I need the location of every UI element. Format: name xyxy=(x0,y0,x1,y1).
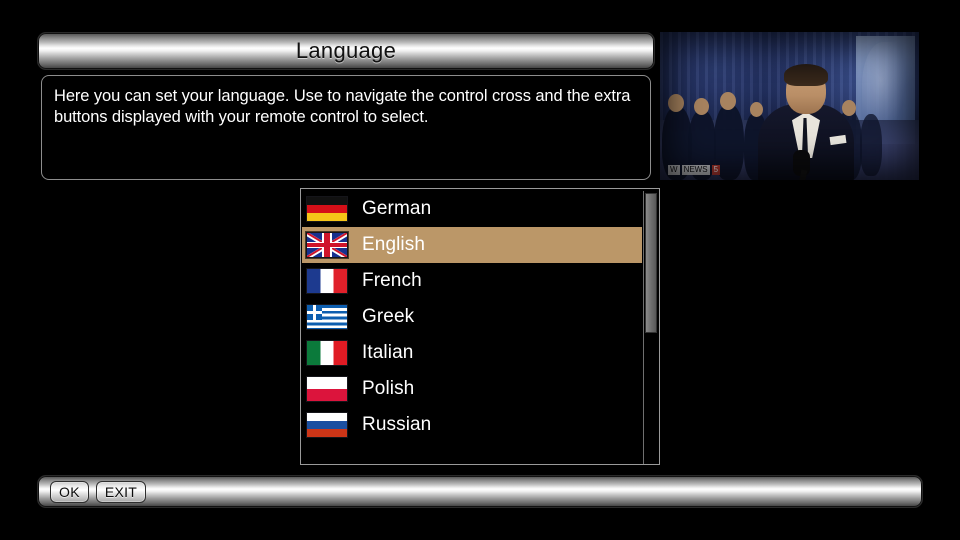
ok-button[interactable]: OK xyxy=(50,481,89,503)
video-preview[interactable]: W NEWS 5 xyxy=(660,32,919,180)
list-item-label: Russian xyxy=(362,414,431,436)
list-item[interactable]: Greek xyxy=(302,299,642,335)
flag-italy-icon xyxy=(306,340,348,366)
logo-part-2: NEWS xyxy=(682,165,710,175)
list-item-label: English xyxy=(362,234,425,256)
broadcaster-logo: W NEWS 5 xyxy=(668,164,720,176)
logo-part-1: W xyxy=(668,165,680,175)
logo-part-3: 5 xyxy=(712,165,720,175)
list-item[interactable]: Russian xyxy=(302,407,642,443)
reporter-hair xyxy=(784,64,828,86)
list-scrollbar[interactable] xyxy=(643,191,657,464)
page-title: Language xyxy=(296,38,396,64)
crowd-head xyxy=(842,100,856,116)
help-panel: Here you can set your language. Use to n… xyxy=(41,75,651,180)
list-item[interactable]: German xyxy=(302,191,642,227)
flag-russia-icon xyxy=(306,412,348,438)
list-item-label: Polish xyxy=(362,378,414,400)
crowd-head xyxy=(668,94,684,112)
crowd-head xyxy=(694,98,709,115)
flag-greece-icon xyxy=(306,304,348,330)
list-item-label: German xyxy=(362,198,431,220)
list-item-label: French xyxy=(362,270,422,292)
scrollbar-thumb[interactable] xyxy=(645,193,657,333)
exit-button[interactable]: EXIT xyxy=(96,481,146,503)
title-bar: Language xyxy=(37,32,655,70)
list-item[interactable]: French xyxy=(302,263,642,299)
crowd-figure xyxy=(860,114,882,176)
crowd-head xyxy=(720,92,736,110)
list-item[interactable]: English xyxy=(302,227,642,263)
list-item-label: Greek xyxy=(362,306,414,328)
help-text: Here you can set your language. Use to n… xyxy=(42,76,650,128)
language-list[interactable]: German English French Greek xyxy=(302,191,642,443)
flag-germany-icon xyxy=(306,196,348,222)
crowd-head xyxy=(750,102,763,117)
flag-poland-icon xyxy=(306,376,348,402)
footer-bar: OK EXIT xyxy=(37,475,923,508)
tv-settings-screen: Language Here you can set your language.… xyxy=(0,0,960,540)
flag-france-icon xyxy=(306,268,348,294)
flag-united-kingdom-icon xyxy=(306,232,348,258)
language-list-panel: German English French Greek xyxy=(300,188,660,465)
list-item[interactable]: Polish xyxy=(302,371,642,407)
list-item-label: Italian xyxy=(362,342,413,364)
list-item[interactable]: Italian xyxy=(302,335,642,371)
